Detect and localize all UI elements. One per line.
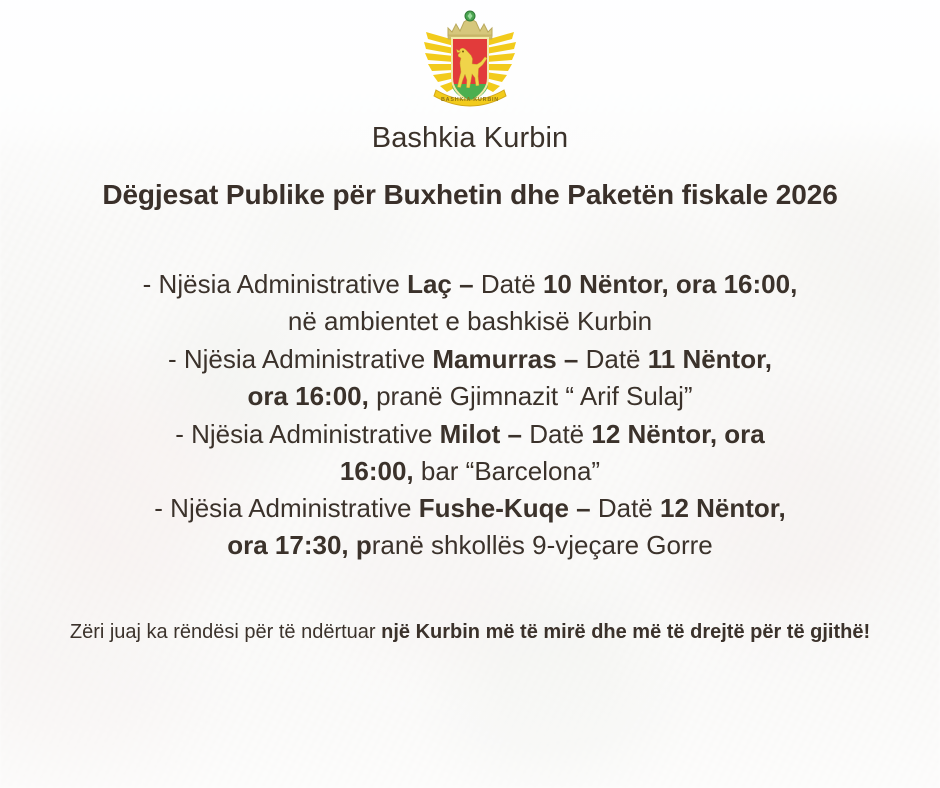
session-unit: Mamurras – (432, 344, 585, 374)
session-line-primary: - Njësia Administrative Fushe-Kuqe – Dat… (154, 490, 785, 527)
session-line-primary: - Njësia Administrative Mamurras – Datë … (168, 341, 772, 378)
session-date-word: Datë (586, 344, 648, 374)
crown-icon (448, 11, 492, 39)
session-date-word: Datë (529, 419, 591, 449)
poster-content: BASHKIA KURBIN Bashkia Kurbin Dëgjesat P… (0, 0, 940, 788)
session-unit: Laç – (407, 269, 481, 299)
session-venue-plain: ranë shkollës 9-vjeçare Gorre (372, 530, 713, 560)
session-line-secondary: ora 17:30, pranë shkollës 9-vjeçare Gorr… (154, 527, 785, 564)
session-item-mamurras: - Njësia Administrative Mamurras – Datë … (168, 341, 772, 415)
session-venue-bold: ora 16:00, (247, 381, 368, 411)
session-item-milot: - Njësia Administrative Milot – Datë 12 … (175, 416, 765, 490)
session-date-word: Datë (598, 493, 660, 523)
session-line-secondary: ora 16:00, pranë Gjimnazit “ Arif Sulaj” (168, 378, 772, 415)
page-title: Dëgjesat Publike për Buxhetin dhe Paketë… (102, 179, 837, 211)
session-item-lac: - Njësia Administrative Laç – Datë 10 Në… (143, 266, 798, 340)
session-date-word: Datë (481, 269, 543, 299)
emblem-container: BASHKIA KURBIN (414, 6, 526, 118)
session-prefix: - Njësia Administrative (154, 493, 418, 523)
session-line-primary: - Njësia Administrative Milot – Datë 12 … (175, 416, 765, 453)
shield-icon (452, 38, 488, 102)
session-list: - Njësia Administrative Laç – Datë 10 Në… (0, 266, 940, 565)
organisation-name: Bashkia Kurbin (372, 122, 568, 155)
session-venue-plain: pranë Gjimnazit “ Arif Sulaj” (369, 381, 693, 411)
session-prefix: - Njësia Administrative (175, 419, 439, 449)
session-datetime: 12 Nëntor, ora (591, 419, 764, 449)
session-venue-plain: në ambientet e bashkisë Kurbin (288, 306, 652, 336)
session-line-secondary: në ambientet e bashkisë Kurbin (143, 303, 798, 340)
session-venue-bold: ora 17:30, p (227, 530, 372, 560)
session-datetime: 11 Nëntor, (648, 344, 772, 374)
svg-text:BASHKIA KURBIN: BASHKIA KURBIN (441, 97, 499, 103)
session-unit: Milot – (440, 419, 530, 449)
session-prefix: - Njësia Administrative (143, 269, 407, 299)
session-prefix: - Njësia Administrative (168, 344, 432, 374)
session-line-primary: - Njësia Administrative Laç – Datë 10 Në… (143, 266, 798, 303)
footer-plain-text: Zëri juaj ka rëndësi për të ndërtuar (70, 621, 381, 643)
session-item-fushe-kuqe: - Njësia Administrative Fushe-Kuqe – Dat… (154, 490, 785, 564)
session-unit: Fushe-Kuqe – (419, 493, 598, 523)
session-venue-bold: 16:00, (340, 456, 414, 486)
session-venue-plain: bar “Barcelona” (414, 456, 600, 486)
session-line-secondary: 16:00, bar “Barcelona” (175, 453, 765, 490)
session-datetime: 12 Nëntor, (660, 493, 786, 523)
footer-bold-text: një Kurbin më të mirë dhe më të drejtë p… (381, 621, 870, 643)
coat-of-arms-icon: BASHKIA KURBIN (414, 6, 526, 118)
footer-message: Zëri juaj ka rëndësi për të ndërtuar një… (70, 617, 870, 648)
poster-root: BASHKIA KURBIN Bashkia Kurbin Dëgjesat P… (0, 0, 940, 788)
session-datetime: 10 Nëntor, ora 16:00, (543, 269, 797, 299)
